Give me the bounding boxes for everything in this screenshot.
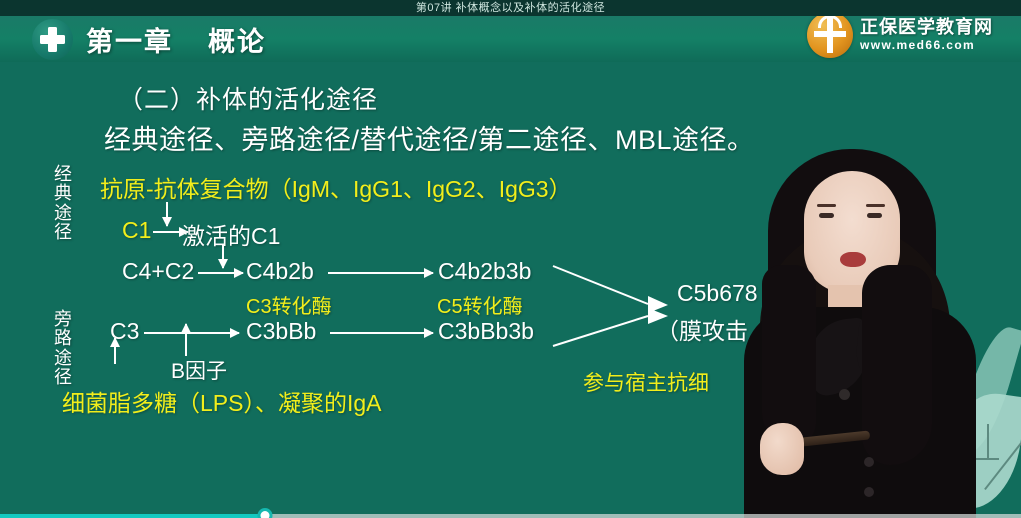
chapter-name: 概论 [208,27,266,57]
arrow-c4c2-to-c4b2b [198,272,243,274]
slide-pathway-list: 经典途径、旁路途径/替代途径/第二途径、MBL途径。 [104,118,755,157]
med66-cross-emblem-icon [807,12,853,58]
chapter-label: 第一章 [86,27,173,57]
leaf-vein-horizontal [961,458,999,460]
brand-logo: 正保医学教育网 www.med66.com [807,12,1013,58]
brand-name: 正保医学教育网 [860,18,993,37]
leaf-vein-vertical [987,424,989,458]
label-lps-iga: 细菌脂多糖（LPS）、凝聚的IgA [62,384,382,418]
node-c3bbb: C3bBb [246,318,316,345]
slide-content: （二）补体的活化途径 经典途径、旁路途径/替代途径/第二途径、MBL途径。 经典… [0,62,1021,518]
slide-sub-heading: （二）补体的活化途径 [118,80,378,116]
arrow-c3bbb-to-c3bbb3b [330,332,433,334]
arrow-c4b2b-to-c4b2b3b [328,272,433,274]
arrow-bfactor-to-pathway [185,324,187,356]
progress-fill [0,514,265,518]
route-label-classical: 经典途径 [50,165,76,243]
cross-horizontal-bar [40,35,65,44]
label-b-factor: B因子 [171,355,227,385]
node-antigen-antibody-complex: 抗原-抗体复合物（IgM、IgG1、IgG2、IgG3） [100,170,572,204]
arrow-c3-to-c3bbb [144,332,239,334]
video-progress-bar[interactable] [0,513,1021,518]
lecture-title: 第07讲 补体概念以及补体的活化途径 [0,0,1021,16]
node-c4b2b: C4b2b [246,258,314,285]
medical-cross-icon [32,19,73,60]
arrow-complex-to-c1 [166,202,168,226]
node-c5b678-occluded: C5b678 [677,280,758,307]
label-c5-convertase: C5转化酶 [437,290,523,319]
route-label-bypass: 旁路途径 [50,310,76,388]
node-activated-c1: 激活的C1 [182,217,280,251]
arrow-activated-c1-to-c4c2 [222,244,224,268]
arrow-lps-to-c3 [114,338,116,364]
emblem-horizontal-bar [814,31,846,37]
label-host-defense-tail: | [893,367,898,391]
node-c3bbb3b: C3bBb3b [438,318,534,345]
node-c4b2b3b: C4b2b3b [438,258,531,285]
brand-text-block: 正保医学教育网 www.med66.com [860,18,993,51]
node-membrane-attack-complex-occluded: （膜攻击 [656,312,748,346]
video-player-screen: 第07讲 补体概念以及补体的活化途径 第一章 概论 正保医学教育网 www.me… [0,0,1021,518]
progress-handle[interactable] [258,508,273,518]
lecture-title-bar: 第07讲 补体概念以及补体的活化途径 [0,0,1021,16]
node-c4-plus-c2: C4+C2 [122,258,194,285]
label-host-defense-occluded: 参与宿主抗细 [583,367,709,397]
node-c1: C1 [122,217,151,244]
chapter-heading: 第一章 概论 [86,20,266,59]
label-c3-convertase: C3转化酶 [246,290,332,319]
brand-url: www.med66.com [860,39,993,52]
